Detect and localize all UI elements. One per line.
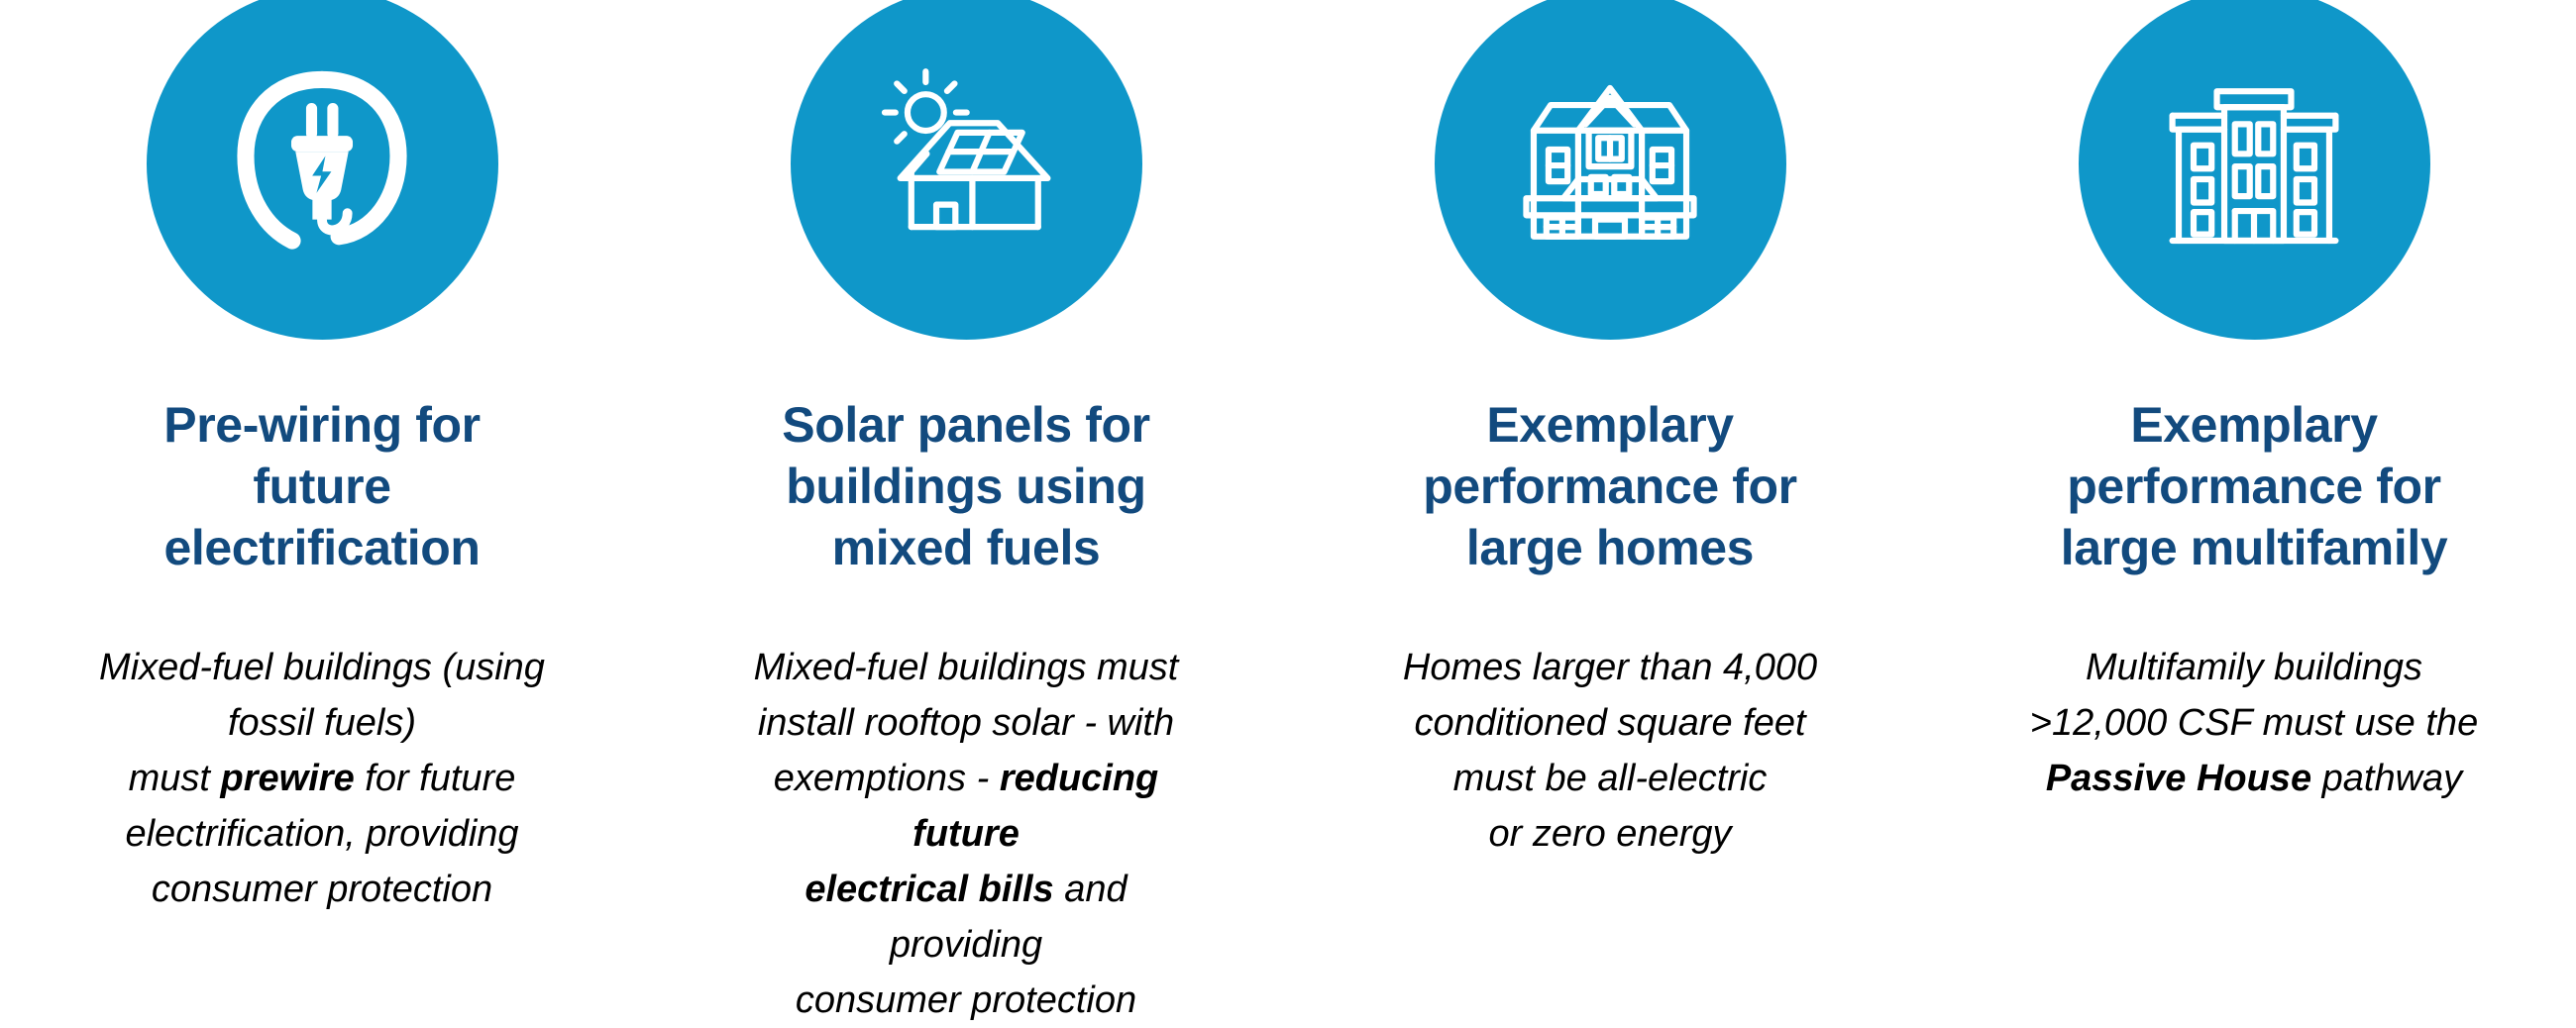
body-text: install rooftop solar - with — [758, 702, 1174, 744]
card-body: Mixed-fuel buildings mustinstall rooftop… — [733, 640, 1199, 1028]
card-body-line: exemptions - reducing future — [733, 751, 1199, 862]
card-body-line: Passive House pathway — [2030, 751, 2478, 806]
card-title-line: buildings using — [782, 456, 1149, 517]
icon-container — [2079, 0, 2430, 340]
body-text: must — [129, 758, 221, 799]
feature-card-multifamily: Exemplary performance for large multifam… — [1932, 0, 2576, 1028]
card-body: Multifamily buildings>12,000 CSF must us… — [2030, 640, 2478, 806]
body-text: conditioned square feet — [1414, 702, 1805, 744]
card-title-line: mixed fuels — [782, 517, 1149, 578]
body-text: Homes larger than 4,000 — [1403, 647, 1817, 688]
card-title-line: Solar panels for — [782, 394, 1149, 456]
card-body-line: Multifamily buildings — [2030, 640, 2478, 695]
body-text: Mixed-fuel buildings must — [754, 647, 1179, 688]
card-body-line: Homes larger than 4,000 — [1403, 640, 1817, 695]
card-body-line: electrical bills and providing — [733, 862, 1199, 973]
card-title-line: performance for — [1423, 456, 1796, 517]
card-title-line: Exemplary — [2061, 394, 2448, 456]
emphasis-text: electrical bills — [805, 869, 1053, 910]
electric-plug-icon — [216, 58, 428, 270]
card-title-line: Pre-wiring for — [163, 394, 480, 456]
body-text: pathway — [2311, 758, 2462, 799]
body-text: for future — [355, 758, 516, 799]
icon-circle-background — [1435, 0, 1786, 340]
body-text: exemptions - — [774, 758, 1000, 799]
feature-card-solar: Solar panels for buildings using mixed f… — [644, 0, 1288, 1028]
card-title: Exemplary performance for large homes — [1423, 394, 1796, 578]
emphasis-text: prewire — [221, 758, 355, 799]
card-body-line: fossil fuels) — [99, 695, 545, 751]
body-text: must be all-electric — [1453, 758, 1768, 799]
card-body-line: consumer protection — [99, 862, 545, 917]
card-title-line: performance for — [2061, 456, 2448, 517]
card-body-line: >12,000 CSF must use the — [2030, 695, 2478, 751]
card-body-line: electrification, providing — [99, 806, 545, 862]
body-text: Multifamily buildings — [2086, 647, 2422, 688]
icon-circle-background — [2079, 0, 2430, 340]
card-title-line: Exemplary — [1423, 394, 1796, 456]
card-title: Exemplary performance for large multifam… — [2061, 394, 2448, 578]
body-text: consumer protection — [796, 979, 1136, 1021]
large-house-icon — [1504, 58, 1716, 270]
body-text: fossil fuels) — [228, 702, 416, 744]
icon-container — [791, 0, 1142, 340]
feature-card-large-homes: Exemplary performance for large homes Ho… — [1288, 0, 1932, 1028]
solar-panel-house-icon — [860, 58, 1072, 270]
card-body: Homes larger than 4,000conditioned squar… — [1403, 640, 1817, 862]
card-body-line: Mixed-fuel buildings must — [733, 640, 1199, 695]
feature-card-prewiring: Pre-wiring for future electrification Mi… — [0, 0, 644, 1028]
body-text: or zero energy — [1488, 813, 1731, 855]
card-body: Mixed-fuel buildings (usingfossil fuels)… — [99, 640, 545, 917]
card-body-line: must prewire for future — [99, 751, 545, 806]
card-body-line: Mixed-fuel buildings (using — [99, 640, 545, 695]
icon-container — [147, 0, 498, 340]
body-text: electrification, providing — [125, 813, 518, 855]
icon-container — [1435, 0, 1786, 340]
card-title-line: large homes — [1423, 517, 1796, 578]
icon-circle-background — [147, 0, 498, 340]
card-title-line: electrification — [163, 517, 480, 578]
body-text: Mixed-fuel buildings (using — [99, 647, 545, 688]
card-title-line: future — [163, 456, 480, 517]
card-body-line: consumer protection — [733, 973, 1199, 1028]
card-body-line: or zero energy — [1403, 806, 1817, 862]
icon-circle-background — [791, 0, 1142, 340]
body-text: consumer protection — [152, 869, 492, 910]
card-title: Pre-wiring for future electrification — [163, 394, 480, 578]
card-body-line: conditioned square feet — [1403, 695, 1817, 751]
card-body-line: must be all-electric — [1403, 751, 1817, 806]
body-text: >12,000 CSF must use the — [2030, 702, 2478, 744]
feature-card-row: Pre-wiring for future electrification Mi… — [0, 0, 2576, 978]
card-title: Solar panels for buildings using mixed f… — [782, 394, 1149, 578]
multifamily-building-icon — [2148, 58, 2360, 270]
emphasis-text: Passive House — [2046, 758, 2311, 799]
card-body-line: install rooftop solar - with — [733, 695, 1199, 751]
card-title-line: large multifamily — [2061, 517, 2448, 578]
